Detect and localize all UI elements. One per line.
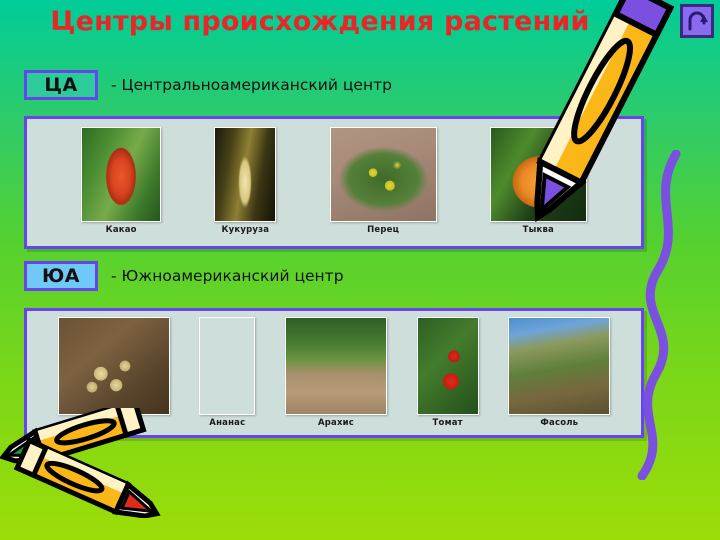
crayons-bottom-left-icon — [0, 408, 176, 518]
plant-photo — [330, 127, 437, 222]
slide-canvas: Центры происхождения растений ЦА - Центр… — [0, 0, 720, 540]
badge-ua: ЮА — [24, 261, 98, 291]
plant-cell: Ананас — [194, 317, 260, 428]
return-arrow-button[interactable] — [680, 4, 714, 38]
plant-caption: Тыква — [485, 225, 592, 235]
legend-name-ca: Центральноамериканский центр — [122, 76, 392, 94]
legend-dash-ca: - — [111, 76, 117, 94]
plant-photo — [199, 317, 255, 415]
plant-caption: Томат — [412, 418, 484, 428]
plant-cell: Какао — [76, 127, 166, 235]
legend-label-ua: - Южноамериканский центр — [111, 267, 344, 285]
purple-squiggle-icon — [598, 150, 708, 480]
legend-label-ca: - Центральноамериканский центр — [111, 76, 392, 94]
plant-caption: Какао — [76, 225, 166, 235]
plant-cell: Томат — [412, 317, 484, 428]
plant-caption: Ананас — [194, 418, 260, 428]
plant-photo — [508, 317, 610, 415]
legend-dash-ua: - — [111, 267, 117, 285]
plant-caption: Кукуруза — [209, 225, 281, 235]
legend-row-ua: ЮА - Южноамериканский центр — [24, 261, 344, 291]
return-arrow-icon — [686, 10, 708, 32]
plant-caption: Арахис — [280, 418, 392, 428]
badge-ca: ЦА — [24, 70, 98, 100]
plant-photo — [81, 127, 161, 222]
legend-row-ca: ЦА - Центральноамериканский центр — [24, 70, 392, 100]
plant-photo — [58, 317, 170, 415]
plant-caption: Перец — [325, 225, 442, 235]
plant-photo — [285, 317, 387, 415]
plant-photo — [214, 127, 276, 222]
legend-name-ua: Южноамериканский центр — [122, 267, 344, 285]
plant-photo — [417, 317, 479, 415]
plant-cell: Перец — [325, 127, 442, 235]
plant-cell: Арахис — [280, 317, 392, 428]
plant-cell: Кукуруза — [209, 127, 281, 235]
